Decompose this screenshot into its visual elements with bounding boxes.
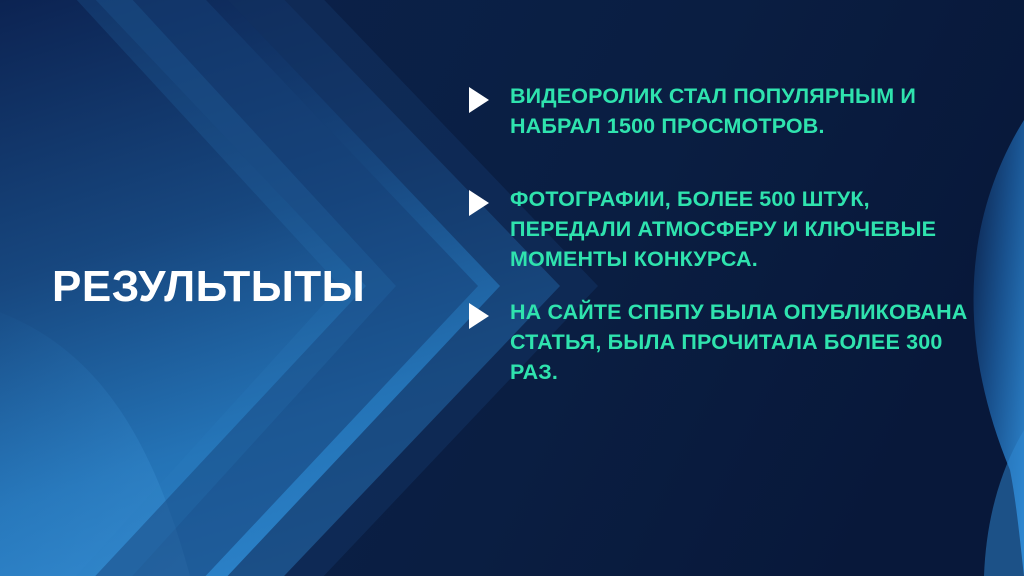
bullet-list: ВИДЕОРОЛИК СТАЛ ПОПУЛЯРНЫМ И НАБРАЛ 1500… bbox=[468, 82, 992, 387]
list-item-text: НА САЙТЕ СПБПУ БЫЛА ОПУБЛИКОВАНА СТАТЬЯ,… bbox=[510, 298, 992, 387]
play-triangle-icon bbox=[468, 190, 490, 216]
list-item: ВИДЕОРОЛИК СТАЛ ПОПУЛЯРНЫМ И НАБРАЛ 1500… bbox=[468, 82, 992, 141]
play-triangle-icon bbox=[468, 87, 490, 113]
list-item: ФОТОГРАФИИ, БОЛЕЕ 500 ШТУК, ПЕРЕДАЛИ АТМ… bbox=[468, 185, 992, 274]
play-triangle-icon bbox=[468, 303, 490, 329]
presentation-slide: РЕЗУЛЬТЫТЫ ВИДЕОРОЛИК СТАЛ ПОПУЛЯРНЫМ И … bbox=[0, 0, 1024, 576]
list-item-text: ФОТОГРАФИИ, БОЛЕЕ 500 ШТУК, ПЕРЕДАЛИ АТМ… bbox=[510, 185, 992, 274]
title-block: РЕЗУЛЬТЫТЫ bbox=[52, 262, 392, 312]
list-item: НА САЙТЕ СПБПУ БЫЛА ОПУБЛИКОВАНА СТАТЬЯ,… bbox=[468, 298, 992, 387]
list-item-text: ВИДЕОРОЛИК СТАЛ ПОПУЛЯРНЫМ И НАБРАЛ 1500… bbox=[510, 82, 992, 141]
page-title: РЕЗУЛЬТЫТЫ bbox=[52, 262, 392, 312]
